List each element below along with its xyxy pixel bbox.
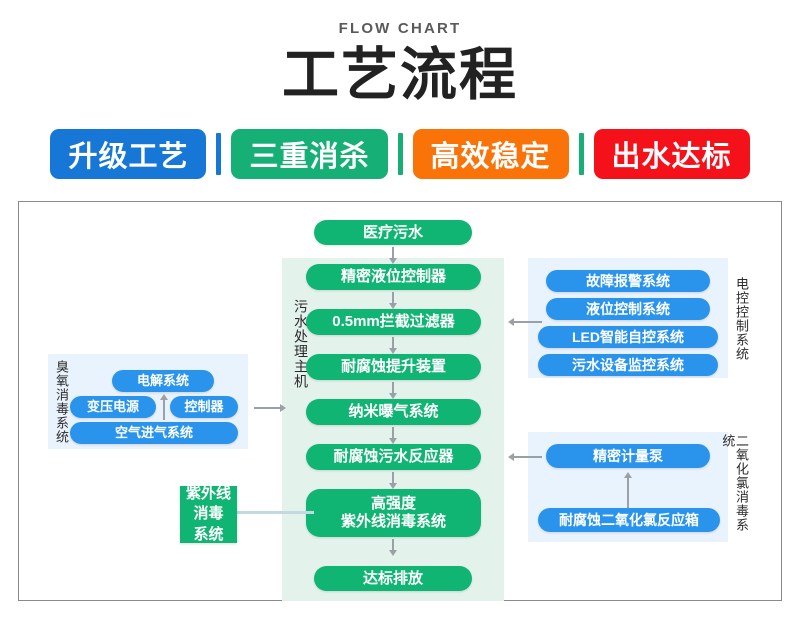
main-process-panel-label: 污水处理主机 — [288, 284, 308, 404]
uv-system-line1: 紫外线 — [186, 484, 231, 504]
cd-precision-metering-pump: 精密计量泵 — [546, 444, 710, 468]
badge-high-efficiency: 高效稳定 — [413, 129, 569, 179]
badge-separator-1 — [216, 133, 221, 175]
badge-row: 升级工艺 三重消杀 高效稳定 出水达标 — [0, 128, 800, 180]
step-high-intensity-uv: 高强度 紫外线消毒系统 — [306, 489, 481, 537]
step-corrosion-resistant-lift: 耐腐蚀提升装置 — [306, 354, 481, 380]
arrow-step5-to-uv — [386, 472, 400, 489]
ec-level-control-system: 液位控制系统 — [546, 298, 710, 320]
connector-uv-to-main — [236, 511, 314, 514]
arrow-electrical-control-to-main — [508, 316, 542, 328]
badge-upgrade-process: 升级工艺 — [50, 129, 206, 179]
ec-led-auto-control-system: LED智能自控系统 — [538, 326, 718, 348]
step-uv-line2: 紫外线消毒系统 — [341, 513, 446, 531]
step-corrosion-resistant-reactor: 耐腐蚀污水反应器 — [306, 444, 481, 470]
flowchart-page: FLOW CHART 工艺流程 升级工艺 三重消杀 高效稳定 出水达标 污水处理… — [0, 0, 800, 620]
badge-triple-disinfection: 三重消杀 — [231, 129, 387, 179]
arrow-step2-to-step3 — [386, 337, 400, 354]
arrow-step3-to-step4 — [386, 382, 400, 399]
uv-system-line2: 消毒 — [193, 504, 223, 524]
badge-separator-3 — [579, 133, 584, 175]
step-filter-05mm: 0.5mm拦截过滤器 — [306, 309, 481, 335]
step-nano-aeration: 纳米曝气系统 — [306, 399, 481, 425]
ozone-system-label: 臭氧消毒系统 — [50, 356, 68, 448]
arrow-step1-to-step2 — [386, 292, 400, 309]
step-compliant-discharge: 达标排放 — [314, 566, 472, 591]
ozone-air-intake-system: 空气进气系统 — [70, 422, 238, 444]
electrical-control-label: 电控控制系统 — [730, 264, 748, 374]
page-kicker: FLOW CHART — [0, 20, 800, 37]
uv-system-box: 紫外线 消毒 系统 — [180, 486, 237, 543]
ozone-transformer-power: 变压电源 — [70, 396, 156, 418]
page-title: 工艺流程 — [0, 44, 800, 108]
badge-separator-2 — [398, 133, 403, 175]
arrow-chlorine-dioxide-to-main — [508, 451, 542, 463]
arrow-uv-to-outlet — [386, 539, 400, 556]
ozone-electrolysis-system: 电解系统 — [112, 370, 214, 392]
arrow-inlet-to-step1 — [386, 247, 400, 264]
chlorine-dioxide-label: 二氧化氯消毒系统 — [730, 434, 748, 540]
step-uv-line1: 高强度 — [371, 495, 416, 513]
uv-system-line3: 系统 — [193, 525, 223, 545]
ozone-controller: 控制器 — [170, 396, 238, 418]
cd-corrosion-resistant-reaction-box: 耐腐蚀二氧化氯反应箱 — [538, 508, 720, 532]
ec-wastewater-monitoring-system: 污水设备监控系统 — [538, 354, 718, 376]
arrow-step4-to-step5 — [386, 427, 400, 444]
arrow-cd-reactor-to-pump — [621, 472, 635, 508]
badge-effluent-compliant: 出水达标 — [594, 129, 750, 179]
arrow-ozone-air-to-electrolysis — [157, 394, 171, 420]
ec-fault-alarm-system: 故障报警系统 — [546, 270, 710, 292]
step-medical-wastewater: 医疗污水 — [314, 220, 472, 245]
arrow-ozone-to-main — [254, 402, 286, 414]
step-precision-level-controller: 精密液位控制器 — [306, 264, 481, 290]
